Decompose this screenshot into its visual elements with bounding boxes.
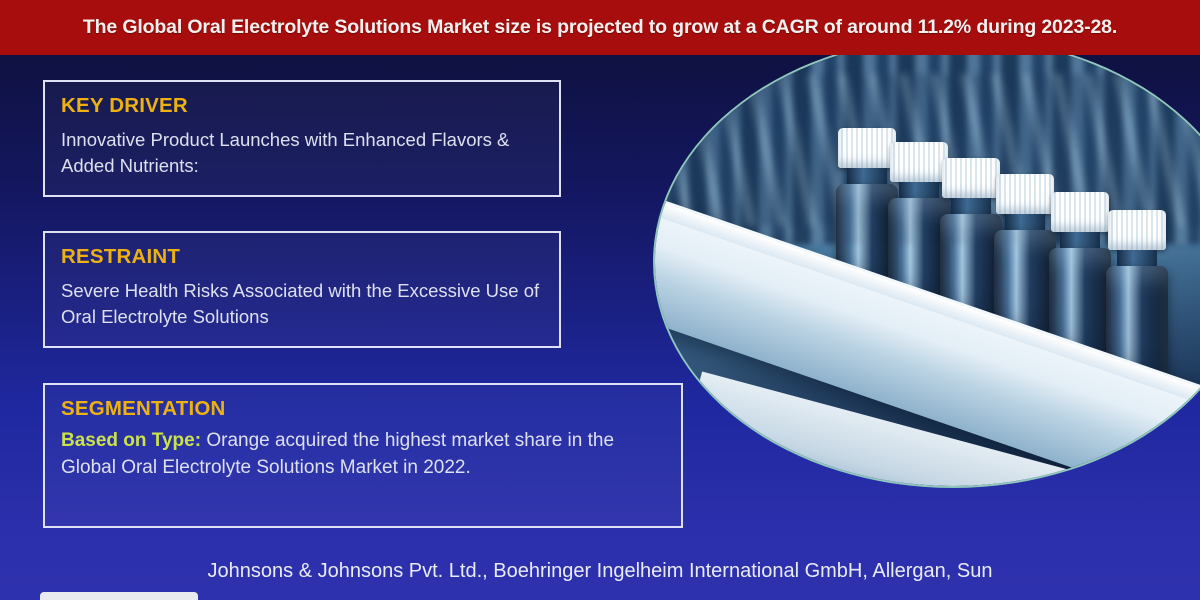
segmentation-body: Based on Type: Orange acquired the highe…	[61, 427, 665, 482]
bottom-left-chip	[40, 592, 198, 600]
bottle-cap	[1051, 192, 1109, 232]
key-driver-title: KEY DRIVER	[61, 96, 543, 117]
bottle-neck	[847, 168, 887, 184]
segmentation-lead: Based on Type:	[61, 430, 201, 451]
headline-text: The Global Oral Electrolyte Solutions Ma…	[77, 16, 1123, 39]
photo-backdrop	[655, 38, 1200, 486]
bottle-cap	[942, 158, 1000, 198]
bottle-cap	[1108, 210, 1166, 250]
bottle-neck	[1005, 214, 1045, 230]
bottle-neck	[1060, 232, 1100, 248]
headline-banner: The Global Oral Electrolyte Solutions Ma…	[0, 0, 1200, 55]
bottle-cap	[996, 174, 1054, 214]
bottle-neck	[1117, 250, 1157, 266]
restraint-body: Severe Health Risks Associated with the …	[61, 278, 543, 331]
company-list: Johnsons & Johnsons Pvt. Ltd., Boehringe…	[0, 560, 1200, 583]
product-photo-circle	[653, 36, 1200, 488]
key-driver-box: KEY DRIVER Innovative Product Launches w…	[43, 80, 561, 197]
bottle-neck	[899, 182, 939, 198]
segmentation-box: SEGMENTATION Based on Type: Orange acqui…	[43, 383, 683, 528]
infographic-root: The Global Oral Electrolyte Solutions Ma…	[0, 0, 1200, 600]
bottle-neck	[951, 198, 991, 214]
restraint-box: RESTRAINT Severe Health Risks Associated…	[43, 231, 561, 348]
segmentation-title: SEGMENTATION	[61, 399, 665, 420]
restraint-title: RESTRAINT	[61, 247, 543, 268]
key-driver-body: Innovative Product Launches with Enhance…	[61, 127, 543, 180]
